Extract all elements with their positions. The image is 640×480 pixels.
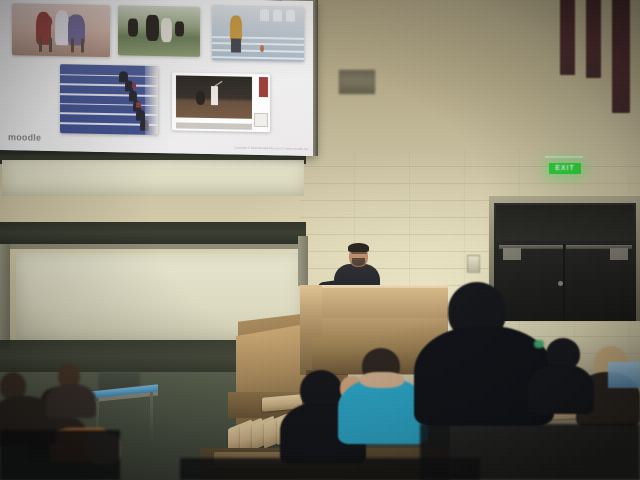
board-post-right — [298, 236, 308, 286]
green-object — [534, 340, 544, 348]
foreground-shadow-left — [0, 430, 120, 480]
projection-screen: moodle Copyright © 2012 Moodle Pty Ltd v… — [0, 0, 316, 156]
lecture-hall-photo: moodle Copyright © 2012 Moodle Pty Ltd v… — [0, 0, 640, 480]
slide-photo-1 — [12, 3, 110, 57]
slide-fineprint: Copyright © 2012 Moodle Pty Ltd v2.3 www… — [234, 146, 308, 151]
slide-photo-2 — [118, 5, 200, 57]
presenter-glasses — [351, 251, 367, 254]
screen-edge — [313, 0, 318, 156]
audience-laptop-screen[interactable] — [608, 362, 640, 388]
acoustic-panel — [612, 0, 630, 113]
board-post-left — [0, 244, 10, 349]
wall-sign — [339, 70, 375, 94]
upper-whiteboard — [2, 160, 304, 196]
presenter-beard — [352, 258, 365, 266]
slide-photo-3 — [212, 5, 304, 62]
blackboard-strip — [0, 222, 306, 244]
door-centre-seam — [563, 244, 565, 321]
exit-sign: EXIT — [549, 163, 581, 174]
moodle-logo: moodle — [8, 132, 41, 143]
board-base-shadow — [0, 340, 250, 374]
table-leg — [150, 392, 153, 444]
slide-photo-5 — [172, 72, 270, 132]
door-knob[interactable] — [558, 281, 563, 286]
foreground-seat-backs — [420, 424, 640, 480]
exit-sign-label: EXIT — [555, 165, 575, 172]
acoustic-panel — [586, 0, 601, 78]
board-rail — [0, 244, 308, 249]
acoustic-panel — [560, 0, 575, 75]
door-transom — [496, 205, 634, 241]
door-latch[interactable] — [610, 248, 628, 260]
exit-sign-housing — [545, 156, 583, 160]
moodle-slide: moodle Copyright © 2012 Moodle Pty Ltd v… — [0, 0, 316, 156]
slide-photo-4 — [60, 64, 158, 135]
door-latch[interactable] — [503, 248, 521, 260]
wall-switch-plate — [467, 255, 480, 273]
